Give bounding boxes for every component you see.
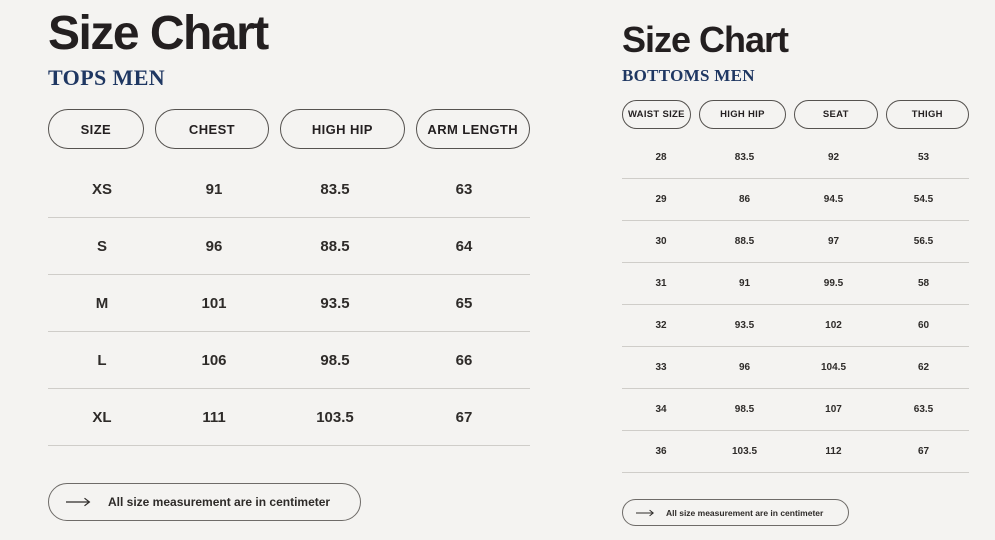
page-subtitle-bottoms: BOTTOMS MEN: [622, 58, 969, 84]
cell-high-hip: 103.5: [272, 389, 398, 446]
cell-waist-size: 29: [622, 179, 700, 221]
cell-thigh: 62: [878, 347, 969, 389]
cell-high-hip: 96: [700, 347, 789, 389]
cell-high-hip: 86: [700, 179, 789, 221]
table-row: 34 98.5 107 63.5: [622, 389, 969, 431]
cell-arm-length: 67: [398, 389, 530, 446]
cell-seat: 102: [789, 305, 878, 347]
column-header-seat[interactable]: SEAT: [794, 100, 877, 129]
cell-high-hip: 103.5: [700, 431, 789, 473]
size-chart-panel-bottoms: Size Chart BOTTOMS MEN WAIST SIZE HIGH H…: [622, 0, 969, 526]
cell-chest: 91: [156, 161, 272, 218]
cell-size: S: [48, 218, 156, 275]
table-header-row-tops: SIZE CHEST HIGH HIP ARM LENGTH: [48, 109, 530, 149]
size-table-tops: XS 91 83.5 63 S 96 88.5 64 M 101 93.5 65: [48, 161, 530, 446]
cell-thigh: 63.5: [878, 389, 969, 431]
cell-arm-length: 64: [398, 218, 530, 275]
table-row: 31 91 99.5 58: [622, 263, 969, 305]
cell-arm-length: 66: [398, 332, 530, 389]
cell-chest: 106: [156, 332, 272, 389]
table-row: S 96 88.5 64: [48, 218, 530, 275]
cell-chest: 96: [156, 218, 272, 275]
cell-waist-size: 32: [622, 305, 700, 347]
table-row: 36 103.5 112 67: [622, 431, 969, 473]
cell-high-hip: 93.5: [700, 305, 789, 347]
cell-high-hip: 83.5: [272, 161, 398, 218]
cell-seat: 94.5: [789, 179, 878, 221]
cell-high-hip: 91: [700, 263, 789, 305]
cell-waist-size: 36: [622, 431, 700, 473]
cell-chest: 101: [156, 275, 272, 332]
cell-high-hip: 93.5: [272, 275, 398, 332]
table-row: XS 91 83.5 63: [48, 161, 530, 218]
arrow-right-icon: [66, 497, 92, 507]
cell-thigh: 67: [878, 431, 969, 473]
column-header-chest[interactable]: CHEST: [155, 109, 269, 149]
cell-high-hip: 98.5: [700, 389, 789, 431]
column-header-waist-size[interactable]: WAIST SIZE: [622, 100, 691, 129]
cell-size: XL: [48, 389, 156, 446]
table-row: L 106 98.5 66: [48, 332, 530, 389]
column-header-thigh[interactable]: THIGH: [886, 100, 969, 129]
column-header-high-hip[interactable]: HIGH HIP: [699, 100, 786, 129]
column-header-size[interactable]: SIZE: [48, 109, 144, 149]
cell-seat: 112: [789, 431, 878, 473]
footnote-label: All size measurement are in centimeter: [108, 495, 330, 509]
cell-waist-size: 34: [622, 389, 700, 431]
cell-waist-size: 30: [622, 221, 700, 263]
footnote-label: All size measurement are in centimeter: [666, 508, 823, 518]
cell-high-hip: 88.5: [272, 218, 398, 275]
cell-high-hip: 88.5: [700, 221, 789, 263]
cell-arm-length: 63: [398, 161, 530, 218]
cell-waist-size: 28: [622, 137, 700, 179]
cell-seat: 92: [789, 137, 878, 179]
table-header-row-bottoms: WAIST SIZE HIGH HIP SEAT THIGH: [622, 100, 969, 129]
cell-seat: 99.5: [789, 263, 878, 305]
page-title-tops: Size Chart: [48, 0, 530, 58]
cell-high-hip: 98.5: [272, 332, 398, 389]
cell-chest: 111: [156, 389, 272, 446]
footnote-tops: All size measurement are in centimeter: [48, 483, 361, 521]
column-header-arm-length[interactable]: ARM LENGTH: [416, 109, 530, 149]
size-chart-panel-tops: Size Chart TOPS MEN SIZE CHEST HIGH HIP …: [48, 0, 530, 521]
table-row: 33 96 104.5 62: [622, 347, 969, 389]
table-row: 29 86 94.5 54.5: [622, 179, 969, 221]
cell-arm-length: 65: [398, 275, 530, 332]
cell-waist-size: 33: [622, 347, 700, 389]
size-chart-page: Size Chart TOPS MEN SIZE CHEST HIGH HIP …: [0, 0, 995, 540]
table-row: 32 93.5 102 60: [622, 305, 969, 347]
cell-size: XS: [48, 161, 156, 218]
cell-thigh: 58: [878, 263, 969, 305]
cell-seat: 104.5: [789, 347, 878, 389]
cell-high-hip: 83.5: [700, 137, 789, 179]
cell-size: L: [48, 332, 156, 389]
cell-thigh: 53: [878, 137, 969, 179]
table-row: 30 88.5 97 56.5: [622, 221, 969, 263]
table-row: XL 111 103.5 67: [48, 389, 530, 446]
cell-waist-size: 31: [622, 263, 700, 305]
footnote-bottoms: All size measurement are in centimeter: [622, 499, 849, 526]
cell-size: M: [48, 275, 156, 332]
cell-seat: 107: [789, 389, 878, 431]
page-title-bottoms: Size Chart: [622, 0, 969, 58]
page-subtitle-tops: TOPS MEN: [48, 58, 530, 89]
cell-thigh: 54.5: [878, 179, 969, 221]
table-row: 28 83.5 92 53: [622, 137, 969, 179]
column-header-high-hip[interactable]: HIGH HIP: [280, 109, 404, 149]
table-row: M 101 93.5 65: [48, 275, 530, 332]
cell-thigh: 56.5: [878, 221, 969, 263]
cell-seat: 97: [789, 221, 878, 263]
cell-thigh: 60: [878, 305, 969, 347]
size-table-bottoms: 28 83.5 92 53 29 86 94.5 54.5 30 88.5 97…: [622, 137, 969, 473]
arrow-right-icon: [636, 509, 655, 517]
